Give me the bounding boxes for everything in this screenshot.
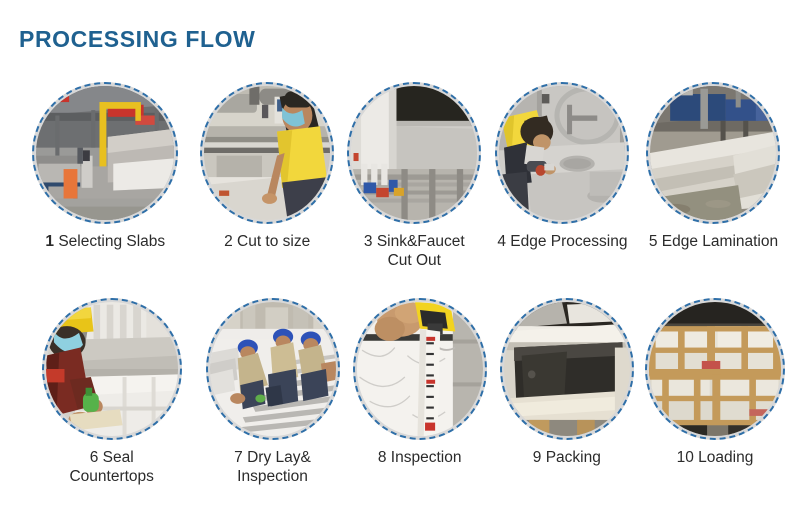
step-label-3: Sink&Faucet Cut Out bbox=[377, 233, 465, 269]
process-step-8[interactable]: 8 Inspection bbox=[346, 298, 494, 487]
step-caption-3: 3 Sink&Faucet Cut Out bbox=[364, 233, 465, 271]
step-bubble-1[interactable] bbox=[32, 82, 178, 224]
process-step-7[interactable]: 7 Dry Lay& Inspection bbox=[199, 298, 345, 487]
step-photo-seal-countertops bbox=[46, 302, 178, 436]
step-photo-packing bbox=[504, 302, 630, 436]
step-bubble-3[interactable] bbox=[347, 82, 481, 224]
process-row-1: 1 Selecting Slabs bbox=[0, 82, 790, 271]
step-caption-1: 1 Selecting Slabs bbox=[45, 233, 165, 252]
step-caption-2: 2 Cut to size bbox=[224, 233, 310, 252]
process-step-4[interactable]: 4 Edge Processing bbox=[488, 82, 637, 271]
step-photo-sink-faucet-cut-out bbox=[351, 86, 477, 220]
step-photo-edge-processing bbox=[499, 86, 625, 220]
step-label-8: Inspection bbox=[391, 449, 462, 466]
step-number-4: 4 bbox=[497, 233, 506, 250]
step-bubble-9[interactable] bbox=[500, 298, 634, 440]
processing-flow-page: PROCESSING FLOW bbox=[0, 0, 790, 520]
step-photo-selecting-slabs bbox=[36, 86, 174, 220]
step-bubble-6[interactable] bbox=[42, 298, 182, 440]
step-label-9: Packing bbox=[546, 449, 601, 466]
step-label-1: Selecting Slabs bbox=[58, 233, 165, 250]
process-step-5[interactable]: 5 Edge Lamination bbox=[637, 82, 790, 271]
step-number-1: 1 bbox=[45, 233, 54, 250]
step-label-7: Dry Lay& Inspection bbox=[237, 449, 311, 485]
step-photo-dry-lay-inspection bbox=[210, 302, 336, 436]
step-label-5: Edge Lamination bbox=[662, 233, 778, 250]
step-number-7: 7 bbox=[234, 449, 243, 466]
process-step-2[interactable]: 2 Cut to size bbox=[194, 82, 341, 271]
process-step-10[interactable]: 10 Loading bbox=[640, 298, 790, 487]
step-number-3: 3 bbox=[364, 233, 373, 250]
step-caption-4: 4 Edge Processing bbox=[497, 233, 627, 252]
step-caption-8: 8 Inspection bbox=[378, 449, 462, 468]
process-step-9[interactable]: 9 Packing bbox=[494, 298, 640, 487]
process-step-1[interactable]: 1 Selecting Slabs bbox=[17, 82, 194, 271]
step-photo-loading bbox=[649, 302, 781, 436]
step-caption-5: 5 Edge Lamination bbox=[649, 233, 778, 252]
process-row-2: 6 Seal Countertops bbox=[0, 298, 790, 487]
step-bubble-4[interactable] bbox=[495, 82, 629, 224]
step-label-4: Edge Processing bbox=[510, 233, 627, 250]
process-step-6[interactable]: 6 Seal Countertops bbox=[24, 298, 199, 487]
step-caption-10: 10 Loading bbox=[677, 449, 754, 468]
process-step-3[interactable]: 3 Sink&Faucet Cut Out bbox=[341, 82, 488, 271]
step-bubble-7[interactable] bbox=[206, 298, 340, 440]
step-number-6: 6 bbox=[90, 449, 99, 466]
step-bubble-2[interactable] bbox=[200, 82, 334, 224]
step-bubble-8[interactable] bbox=[353, 298, 487, 440]
step-bubble-10[interactable] bbox=[645, 298, 785, 440]
step-bubble-5[interactable] bbox=[646, 82, 780, 224]
page-title: PROCESSING FLOW bbox=[19, 26, 255, 53]
step-number-10: 10 bbox=[677, 449, 694, 466]
step-label-10: Loading bbox=[698, 449, 753, 466]
step-photo-cut-to-size bbox=[204, 86, 330, 220]
step-number-9: 9 bbox=[533, 449, 542, 466]
step-label-6: Seal Countertops bbox=[69, 449, 153, 485]
step-photo-edge-lamination bbox=[650, 86, 776, 220]
step-caption-9: 9 Packing bbox=[533, 449, 601, 468]
step-number-5: 5 bbox=[649, 233, 658, 250]
step-label-2: Cut to size bbox=[237, 233, 310, 250]
step-caption-6: 6 Seal Countertops bbox=[69, 449, 153, 487]
step-number-8: 8 bbox=[378, 449, 387, 466]
step-photo-inspection bbox=[357, 302, 483, 436]
step-caption-7: 7 Dry Lay& Inspection bbox=[234, 449, 311, 487]
step-number-2: 2 bbox=[224, 233, 233, 250]
